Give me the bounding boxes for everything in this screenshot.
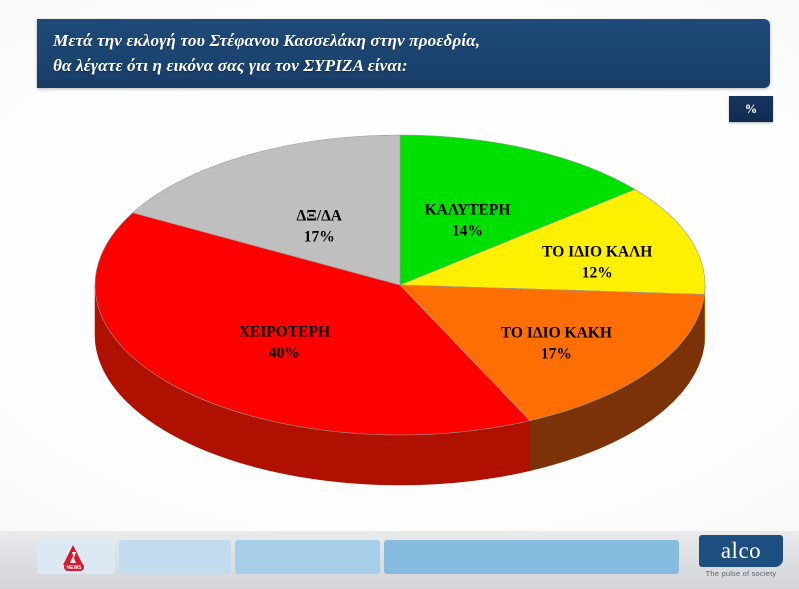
footer-bar: NEWS alco The pulse of society bbox=[0, 531, 799, 589]
title-bar: Μετά την εκλογή του Στέφανου Κασσελάκη σ… bbox=[37, 19, 770, 88]
slice-label-name: ΤΟ ΙΔΙΟ ΚΑΛΗ bbox=[542, 243, 652, 260]
slice-label-value: 17% bbox=[304, 228, 335, 245]
slice-label-value: 12% bbox=[582, 264, 613, 281]
title-line-2: θα λέγατε ότι η εικόνα σας για τον ΣΥΡΙΖ… bbox=[53, 53, 756, 78]
slice-label-name: ΧΕΙΡΟΤΕΡΗ bbox=[239, 323, 330, 340]
percent-unit-badge: % bbox=[729, 96, 773, 122]
pie-top-faces bbox=[95, 135, 705, 435]
footer-segment-4 bbox=[384, 540, 679, 574]
svg-text:NEWS: NEWS bbox=[67, 565, 83, 571]
footer-segment-2 bbox=[119, 540, 231, 574]
pie-chart: ΚΑΛΥΤΕΡΗ14%ΤΟ ΙΔΙΟ ΚΑΛΗ12%ΤΟ ΙΔΙΟ ΚΑΚΗ17… bbox=[0, 120, 799, 520]
slice-label-value: 14% bbox=[452, 222, 483, 239]
alco-tagline: The pulse of society bbox=[691, 569, 791, 578]
slice-label-name: ΤΟ ΙΔΙΟ ΚΑΚΗ bbox=[501, 324, 612, 341]
slice-label-name: ΚΑΛΥΤΕΡΗ bbox=[425, 201, 511, 218]
slice-label-name: ΔΞ/ΔΑ bbox=[297, 207, 343, 224]
pie-chart-svg: ΚΑΛΥΤΕΡΗ14%ΤΟ ΙΔΙΟ ΚΑΛΗ12%ΤΟ ΙΔΙΟ ΚΑΚΗ17… bbox=[0, 120, 799, 520]
slide-canvas: Μετά την εκλογή του Στέφανου Κασσελάκη σ… bbox=[0, 0, 799, 589]
slice-label-value: 17% bbox=[541, 345, 572, 362]
footer-segment-3 bbox=[235, 540, 380, 574]
title-line-1: Μετά την εκλογή του Στέφανου Κασσελάκη σ… bbox=[53, 28, 756, 53]
alco-wordmark: alco bbox=[699, 535, 783, 567]
slice-label-value: 40% bbox=[269, 344, 300, 361]
alco-logo: alco The pulse of society bbox=[691, 535, 791, 583]
alpha-news-logo-icon: NEWS bbox=[52, 543, 96, 573]
